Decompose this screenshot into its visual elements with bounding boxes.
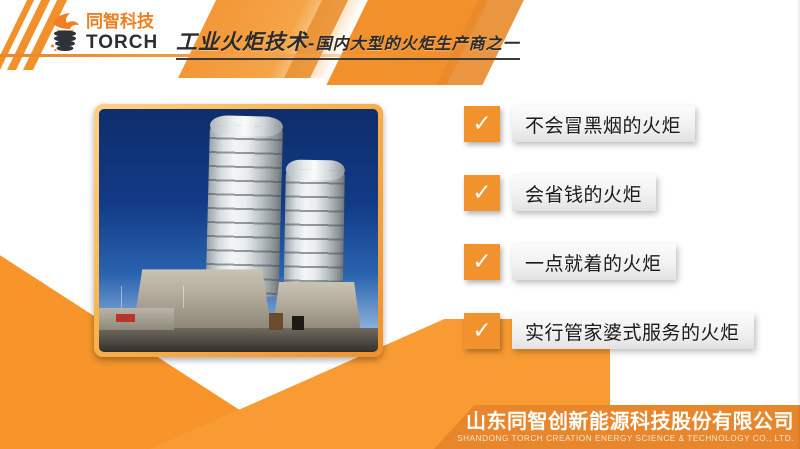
building-signboard	[116, 314, 136, 323]
page-title-sub: -国内大型的火炬生产商之一	[308, 34, 520, 53]
list-item-label: 实行管家婆式服务的火炬	[512, 313, 754, 349]
footer-company-band: 山东同智创新能源科技股份有限公司 SHANDONG TORCH CREATION…	[434, 405, 800, 449]
list-item[interactable]: ✓ 不会冒黑烟的火炬	[464, 106, 754, 142]
logo-wordmark: 同智科技 TORCH	[86, 14, 158, 52]
list-item-label: 会省钱的火炬	[512, 175, 656, 211]
footer-company-name-cn: 山东同智创新能源科技股份有限公司	[466, 411, 794, 432]
ground-strip	[99, 328, 378, 352]
check-mark-icon: ✓	[464, 313, 500, 349]
check-mark-icon: ✓	[464, 106, 500, 142]
tower-bands-small	[283, 169, 344, 299]
list-item-label: 不会冒黑烟的火炬	[512, 106, 695, 142]
check-mark-icon: ✓	[464, 175, 500, 211]
flame-torch-icon	[48, 12, 82, 54]
photo-frame	[94, 104, 383, 357]
base-door-dark	[292, 316, 305, 331]
logo-text-en: TORCH	[86, 33, 158, 52]
industrial-flare-stack-photo	[99, 109, 378, 352]
utility-pole-2	[183, 286, 184, 308]
flare-stack-tower-small	[283, 169, 344, 299]
list-item-label: 一点就着的火炬	[512, 244, 676, 280]
slide-canvas: 同智科技 TORCH 工业火炬技术-国内大型的火炬生产商之一	[0, 0, 800, 449]
check-mark-icon: ✓	[464, 244, 500, 280]
header-stripe-1	[0, 0, 38, 70]
footer-company-name-en: SHANDONG TORCH CREATION ENERGY SCIENCE &…	[457, 434, 794, 443]
site-building	[99, 308, 174, 330]
utility-pole-1	[121, 286, 122, 308]
base-door-brown	[269, 313, 283, 330]
page-title-main: 工业火炬技术	[176, 30, 308, 54]
feature-checklist: ✓ 不会冒黑烟的火炬 ✓ 会省钱的火炬 ✓ 一点就着的火炬 ✓ 实行管家婆式服务…	[464, 106, 754, 349]
logo-text-cn: 同智科技	[86, 14, 158, 31]
header-stripe-2	[7, 0, 54, 70]
list-item[interactable]: ✓ 一点就着的火炬	[464, 244, 754, 280]
list-item[interactable]: ✓ 会省钱的火炬	[464, 175, 754, 211]
page-title: 工业火炬技术-国内大型的火炬生产商之一	[176, 26, 520, 60]
list-item[interactable]: ✓ 实行管家婆式服务的火炬	[464, 313, 754, 349]
company-logo: 同智科技 TORCH	[48, 10, 168, 56]
